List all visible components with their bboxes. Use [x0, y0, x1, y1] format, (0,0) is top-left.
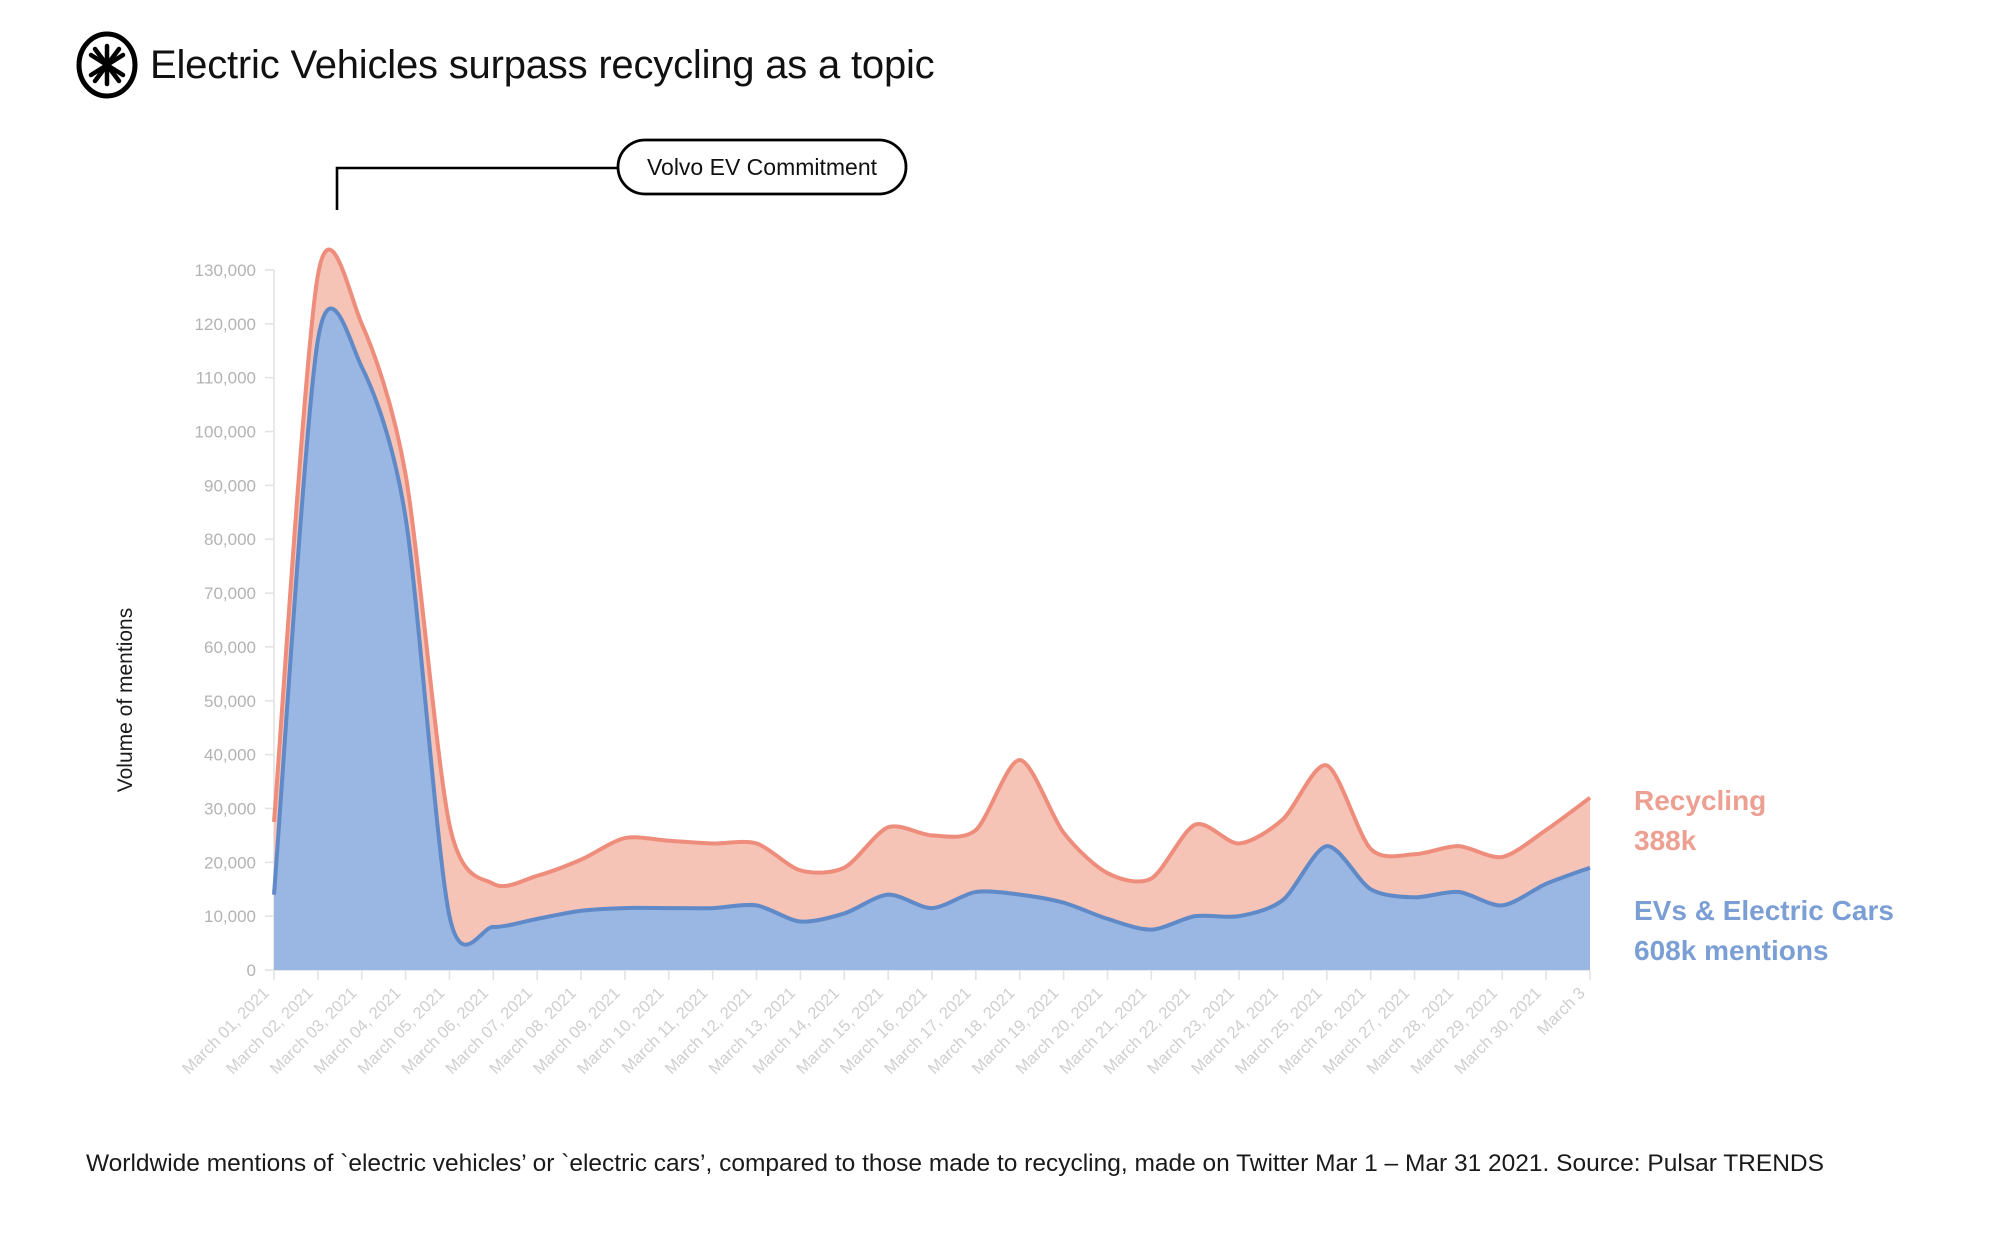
svg-text:60,000: 60,000: [204, 638, 256, 657]
x-axis-ticks: [274, 970, 1590, 980]
asterisk-in-circle-logo: [74, 30, 140, 100]
x-axis-labels: March 01, 2021March 02, 2021March 03, 20…: [179, 984, 1589, 1078]
legend-value-recycling: 388k: [1634, 825, 1697, 856]
svg-text:0: 0: [247, 961, 256, 980]
svg-text:90,000: 90,000: [204, 476, 256, 495]
annotation-label: Volvo EV Commitment: [647, 154, 878, 180]
svg-text:120,000: 120,000: [195, 315, 256, 334]
annotation-callout[interactable]: Volvo EV Commitment: [337, 140, 906, 210]
svg-text:50,000: 50,000: [204, 692, 256, 711]
y-axis-title: Volume of mentions: [114, 608, 137, 792]
page-header: Electric Vehicles surpass recycling as a…: [74, 30, 934, 100]
area-chart: Volume of mentions 010,00020,00030,00040…: [0, 120, 2000, 1080]
svg-text:20,000: 20,000: [204, 853, 256, 872]
y-axis-ticks: 010,00020,00030,00040,00050,00060,00070,…: [195, 261, 274, 980]
svg-text:100,000: 100,000: [195, 423, 256, 442]
svg-text:110,000: 110,000: [196, 369, 256, 388]
svg-text:March 3: March 3: [1534, 984, 1589, 1039]
chart-container: Volume of mentions 010,00020,00030,00040…: [0, 120, 2000, 1080]
page-title: Electric Vehicles surpass recycling as a…: [150, 43, 934, 88]
svg-text:80,000: 80,000: [204, 530, 256, 549]
svg-text:70,000: 70,000: [204, 584, 256, 603]
series-line-recycling: [274, 250, 1590, 887]
legend-label-recycling: Recycling: [1634, 785, 1766, 816]
svg-text:10,000: 10,000: [204, 907, 256, 926]
svg-text:30,000: 30,000: [204, 799, 256, 818]
legend-label-evs: EVs & Electric Cars: [1634, 895, 1894, 926]
annotation-leader-line: [337, 168, 620, 210]
svg-text:40,000: 40,000: [204, 746, 256, 765]
legend-value-evs: 608k mentions: [1634, 935, 1829, 966]
series-area-recycling: [274, 250, 1590, 970]
chart-legend: Recycling 388k EVs & Electric Cars 608k …: [1634, 785, 1894, 966]
footer-caption: Worldwide mentions of `electric vehicles…: [86, 1150, 1824, 1178]
svg-text:130,000: 130,000: [195, 261, 256, 280]
